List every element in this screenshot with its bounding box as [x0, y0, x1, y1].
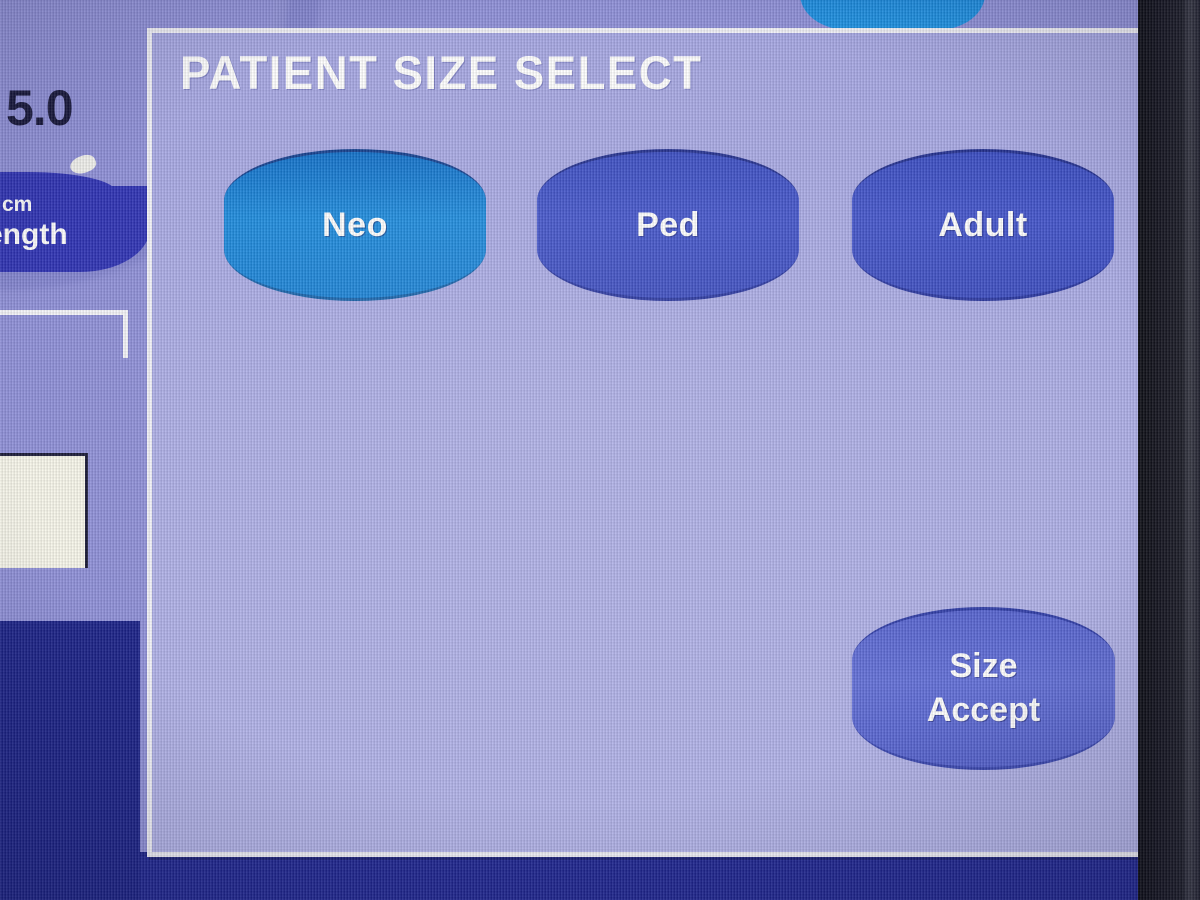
dialog-body: PATIENT SIZE SELECT Neo Ped Adult Size A…	[152, 33, 1138, 852]
monitor-photo: 5.0 cm ength PATIENT SIZE SELECT Neo Ped…	[0, 0, 1200, 900]
page-title: PATIENT SIZE SELECT	[180, 45, 702, 100]
background-measurement-unit: cm	[2, 193, 32, 217]
size-button-neo-label: Neo	[322, 206, 388, 244]
size-accept-line2: Accept	[927, 691, 1040, 729]
size-button-row: Neo Ped Adult	[152, 149, 1138, 309]
background-measurement-label: ength	[0, 218, 68, 252]
size-accept-button[interactable]: Size Accept	[852, 607, 1115, 770]
size-button-ped[interactable]: Ped	[537, 149, 799, 301]
size-button-adult-label: Adult	[938, 206, 1027, 244]
background-frame-corner	[0, 310, 128, 358]
background-measurement-value: 5.0	[6, 83, 73, 133]
background-readout-box	[0, 453, 88, 568]
size-button-ped-label: Ped	[636, 206, 700, 244]
size-accept-label: Size Accept	[927, 645, 1040, 732]
background-cyan-button[interactable]	[800, 0, 985, 30]
background-bottom-bar-inner	[140, 856, 1142, 900]
size-button-neo[interactable]: Neo	[224, 149, 486, 301]
patient-size-select-dialog: PATIENT SIZE SELECT Neo Ped Adult Size A…	[147, 28, 1143, 857]
size-button-adult[interactable]: Adult	[852, 149, 1114, 301]
monitor-bezel-edge	[1184, 0, 1200, 900]
size-accept-line1: Size	[949, 647, 1017, 685]
